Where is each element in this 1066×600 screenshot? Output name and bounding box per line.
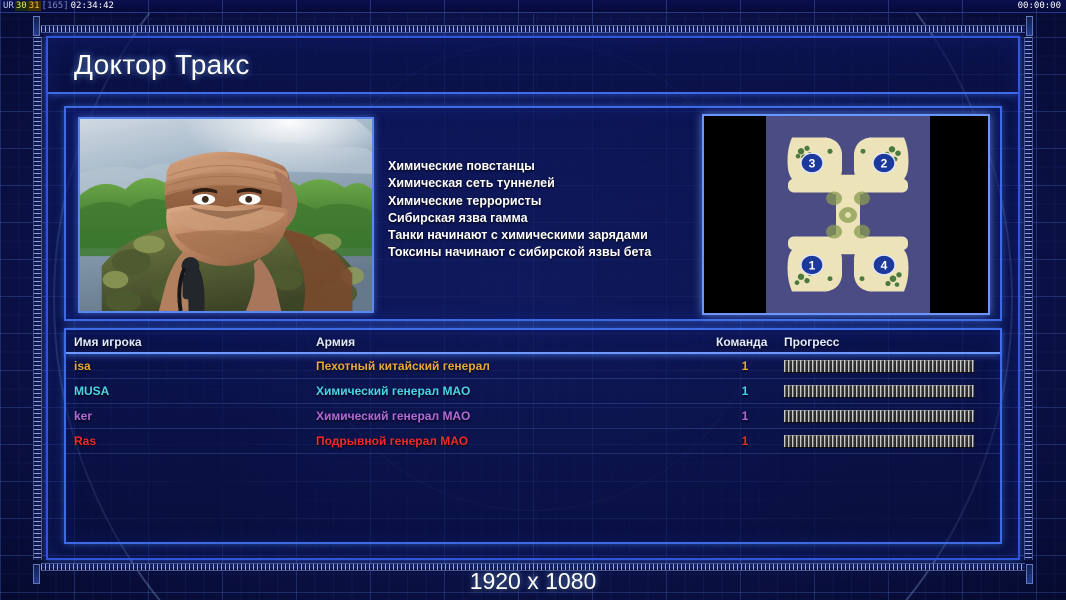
cell-army: Химический генерал МАО	[316, 384, 470, 398]
cell-team: 1	[732, 359, 758, 373]
svg-text:2: 2	[881, 157, 888, 171]
minimap-canvas: 3 2 1 4	[766, 116, 930, 313]
topbar-elapsed-time: 02:34:42	[70, 1, 115, 11]
topbar-num-1: 30	[15, 1, 28, 11]
cell-player-name: Ras	[74, 434, 96, 448]
progress-bar	[784, 410, 974, 423]
topbar-bracket-value: [165]	[41, 1, 70, 11]
svg-text:4: 4	[881, 258, 888, 272]
ruler-top	[41, 25, 1025, 33]
cell-progress	[784, 410, 974, 423]
top-status-left-group: UR3031[165]02:34:42	[2, 1, 115, 12]
portrait-artwork	[80, 119, 372, 311]
description-line: Химические террористы	[388, 193, 718, 210]
header-progress: Прогресс	[784, 335, 839, 349]
minimap-artwork: 3 2 1 4	[766, 116, 930, 313]
cell-progress	[784, 360, 974, 373]
ruler-right-ticks	[1025, 37, 1032, 560]
cell-team: 1	[732, 434, 758, 448]
cell-army: Пехотный китайский генерал	[316, 359, 490, 373]
top-status-bar-cells	[0, 0, 1066, 12]
main-panel: Доктор Тракс	[46, 36, 1020, 560]
topbar-label: UR	[2, 1, 15, 11]
game-lobby-screen: UR3031[165]02:34:42 00:00:00 Доктор Трак…	[0, 0, 1066, 600]
table-row[interactable]: RasПодрывной генерал МАО1	[66, 429, 1000, 454]
cell-army: Химический генерал МАО	[316, 409, 470, 423]
table-row[interactable]: kerХимический генерал МАО1	[66, 404, 1000, 429]
ruler-left	[33, 37, 42, 560]
player-table-body: isaПехотный китайский генерал1MUSAХимиче…	[66, 354, 1000, 454]
description-line: Химическая сеть туннелей	[388, 175, 718, 192]
cell-progress	[784, 385, 974, 398]
progress-bar	[784, 385, 974, 398]
page-title: Доктор Тракс	[74, 49, 250, 81]
cell-team: 1	[732, 384, 758, 398]
top-status-bar: UR3031[165]02:34:42 00:00:00	[0, 0, 1066, 13]
header-army: Армия	[316, 335, 355, 349]
ruler-top-ticks	[41, 26, 1025, 32]
description-line: Сибирская язва гамма	[388, 210, 718, 227]
player-table: Имя игрока Армия Команда Прогресс isaПех…	[64, 328, 1002, 544]
title-bar: Доктор Тракс	[48, 38, 1018, 94]
cell-player-name: MUSA	[74, 384, 109, 398]
topbar-clock: 00:00:00	[1018, 1, 1061, 12]
corner-mark-top-left	[33, 16, 40, 36]
cell-army: Подрывной генерал МАО	[316, 434, 468, 448]
cell-player-name: ker	[74, 409, 92, 423]
player-table-header: Имя игрока Армия Команда Прогресс	[66, 330, 1000, 354]
cell-player-name: isa	[74, 359, 91, 373]
ruler-left-ticks	[34, 37, 41, 560]
header-player-name: Имя игрока	[74, 335, 142, 349]
description-line: Танки начинают с химическими зарядами	[388, 227, 718, 244]
table-row[interactable]: MUSAХимический генерал МАО1	[66, 379, 1000, 404]
progress-bar	[784, 435, 974, 448]
corner-mark-top-right	[1026, 16, 1033, 36]
description-line: Токсины начинают с сибирской язвы бета	[388, 244, 718, 261]
description-line: Химические повстанцы	[388, 158, 718, 175]
svg-text:3: 3	[809, 157, 816, 171]
cell-team: 1	[732, 409, 758, 423]
commander-portrait	[78, 117, 374, 313]
cell-progress	[784, 435, 974, 448]
ruler-right	[1024, 37, 1033, 560]
table-row[interactable]: isaПехотный китайский генерал1	[66, 354, 1000, 379]
svg-text:1: 1	[809, 258, 816, 272]
header-team: Команда	[716, 335, 767, 349]
faction-description-list: Химические повстанцы Химическая сеть тун…	[388, 158, 718, 262]
progress-bar	[784, 360, 974, 373]
info-panel: Химические повстанцы Химическая сеть тун…	[64, 106, 1002, 321]
resolution-label: 1920 x 1080	[0, 568, 1066, 595]
minimap-preview[interactable]: 3 2 1 4	[702, 114, 990, 315]
topbar-num-2: 31	[28, 1, 41, 11]
